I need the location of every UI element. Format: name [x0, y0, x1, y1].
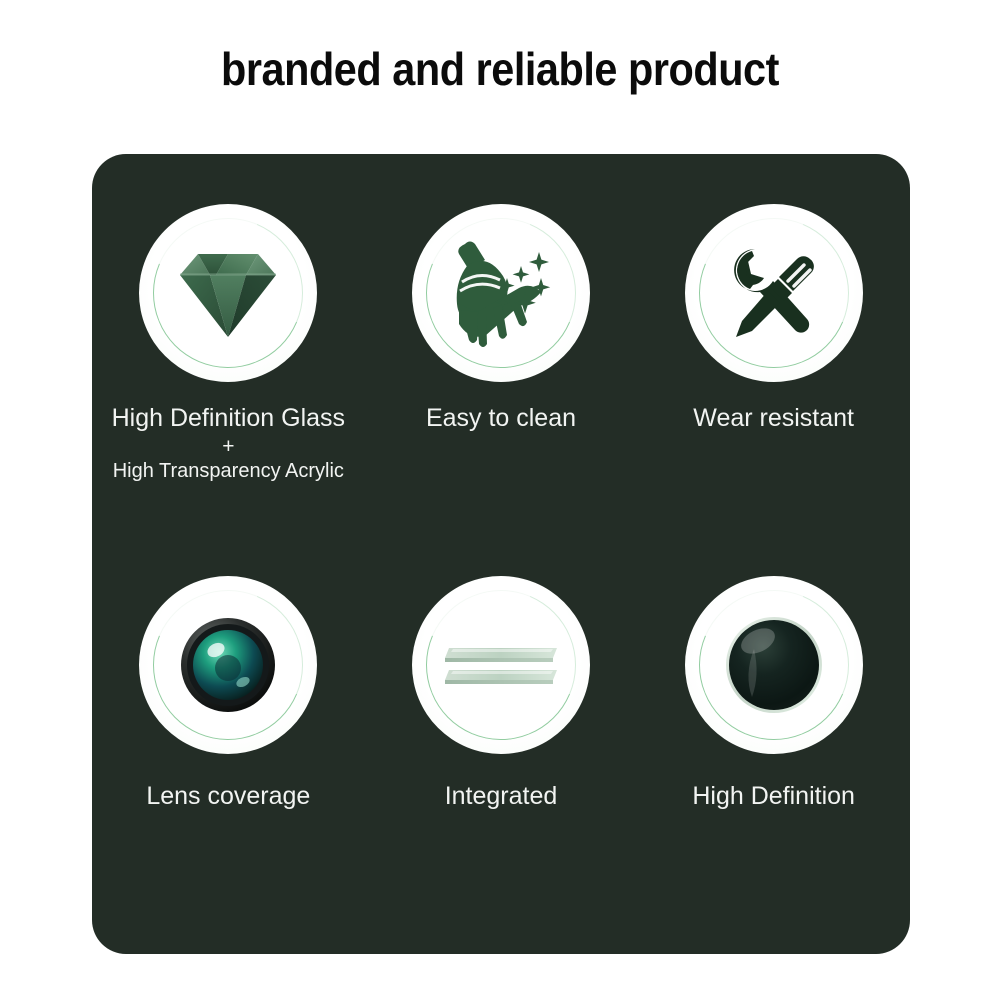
- feature-item-high-definition[interactable]: High Definition: [637, 554, 910, 954]
- feature-item-integrated[interactable]: Integrated: [365, 554, 638, 954]
- feature-label: Easy to clean: [426, 404, 576, 434]
- feature-label: High Definition: [692, 782, 855, 812]
- feature-card: High Definition Glass + High Transparenc…: [92, 154, 910, 954]
- diamond-icon: [176, 245, 280, 341]
- wrench-screwdriver-icon: [722, 241, 826, 345]
- page-title: branded and reliable product: [50, 42, 950, 96]
- glass-dome-icon: [724, 615, 824, 715]
- feature-badge: [412, 204, 590, 382]
- feature-badge: [685, 204, 863, 382]
- feature-label: Wear resistant: [693, 404, 854, 434]
- feature-label-block: Wear resistant: [693, 404, 854, 434]
- feature-label-plus: +: [112, 434, 345, 460]
- feature-item-lens-coverage[interactable]: Lens coverage: [92, 554, 365, 954]
- feature-sublabel: High Transparency Acrylic: [112, 460, 345, 484]
- feature-label: Integrated: [445, 782, 558, 812]
- stacked-glass-sheets-icon: [435, 630, 567, 700]
- feature-item-high-definition-glass[interactable]: High Definition Glass + High Transparenc…: [92, 154, 365, 554]
- feature-label: Lens coverage: [146, 782, 310, 812]
- feature-badge: [412, 576, 590, 754]
- feature-label-block: Integrated: [445, 782, 558, 812]
- feature-grid: High Definition Glass + High Transparenc…: [92, 154, 910, 954]
- feature-badge: [139, 204, 317, 382]
- feature-badge: [685, 576, 863, 754]
- feature-item-wear-resistant[interactable]: Wear resistant: [637, 154, 910, 554]
- feature-label-block: High Definition: [692, 782, 855, 812]
- feature-label: High Definition Glass: [112, 404, 345, 434]
- feature-label-block: High Definition Glass + High Transparenc…: [112, 404, 345, 483]
- feature-badge: [139, 576, 317, 754]
- feature-item-easy-to-clean[interactable]: Easy to clean: [365, 154, 638, 554]
- feature-label-block: Easy to clean: [426, 404, 576, 434]
- broom-sparkle-icon: [443, 238, 559, 348]
- camera-lens-icon: [179, 616, 277, 714]
- feature-label-block: Lens coverage: [146, 782, 310, 812]
